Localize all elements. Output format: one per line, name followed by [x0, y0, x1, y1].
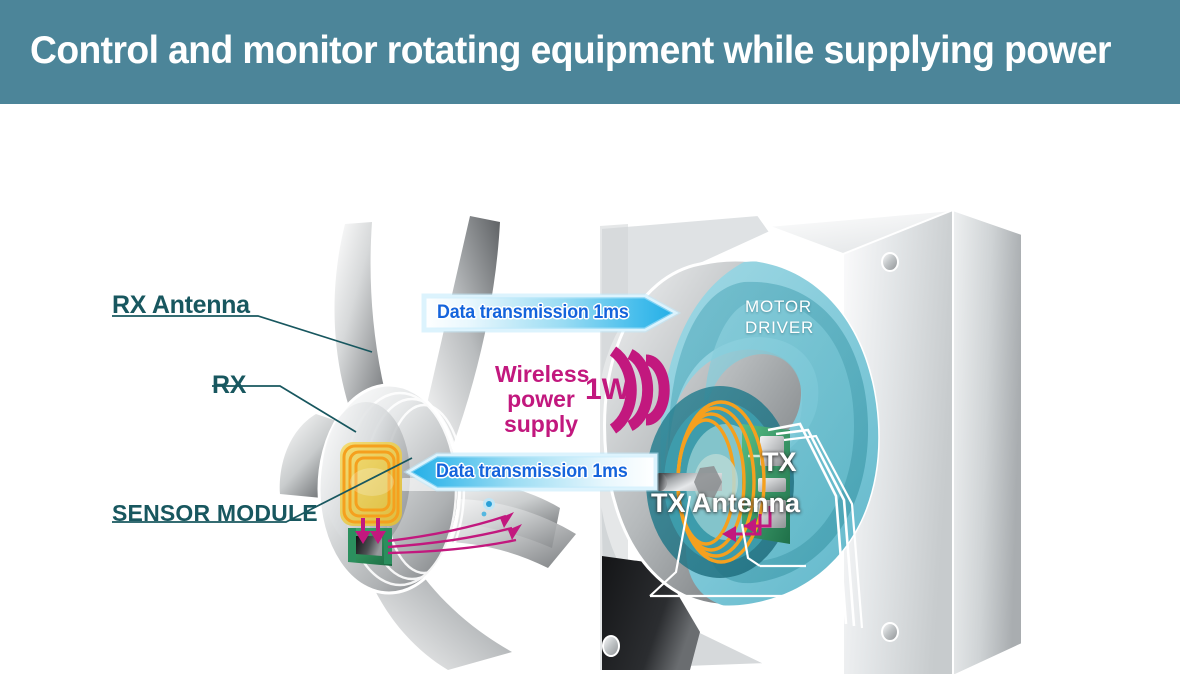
- fan-rotor-group: [112, 216, 576, 670]
- label-wireless-power-line2: power: [495, 387, 587, 412]
- label-tx-antenna: TX Antenna: [651, 488, 800, 519]
- label-wireless-power-line3: supply: [495, 412, 587, 437]
- band-text-top: Data transmission 1ms: [437, 302, 629, 324]
- screw-hole-bottom-right: [882, 623, 898, 641]
- label-sensor-module: SENSOR MODULE: [112, 500, 318, 527]
- rx-module-group: [348, 528, 392, 566]
- label-tx: TX: [762, 447, 797, 478]
- page-header: Control and monitor rotating equipment w…: [0, 0, 1180, 104]
- label-wireless-power-line1: Wireless: [495, 362, 587, 387]
- band-text-bottom: Data transmission 1ms: [436, 461, 628, 483]
- rx-antenna-highlight: [350, 468, 394, 496]
- label-power-rating: 1W: [585, 373, 630, 407]
- sensor-dot-small: [482, 512, 487, 517]
- label-motor-driver-line1: MOTOR: [745, 296, 812, 317]
- housing-right-face: [953, 210, 1022, 674]
- label-motor-driver-line2: DRIVER: [745, 317, 814, 338]
- motor-housing-group: [600, 198, 1022, 674]
- sensor-dot-inner: [486, 501, 492, 507]
- screw-hole-top-right: [882, 253, 898, 271]
- leader-rx-antenna: [112, 316, 372, 352]
- rx-antenna-group: [340, 442, 402, 526]
- label-rx-antenna: RX Antenna: [112, 291, 250, 320]
- diagram-page: Control and monitor rotating equipment w…: [0, 0, 1180, 674]
- label-rx: RX: [212, 371, 246, 400]
- page-title: Control and monitor rotating equipment w…: [30, 28, 1109, 74]
- screw-hole-bottom-left: [603, 636, 619, 656]
- rx-pcb-pad-left: [348, 528, 356, 562]
